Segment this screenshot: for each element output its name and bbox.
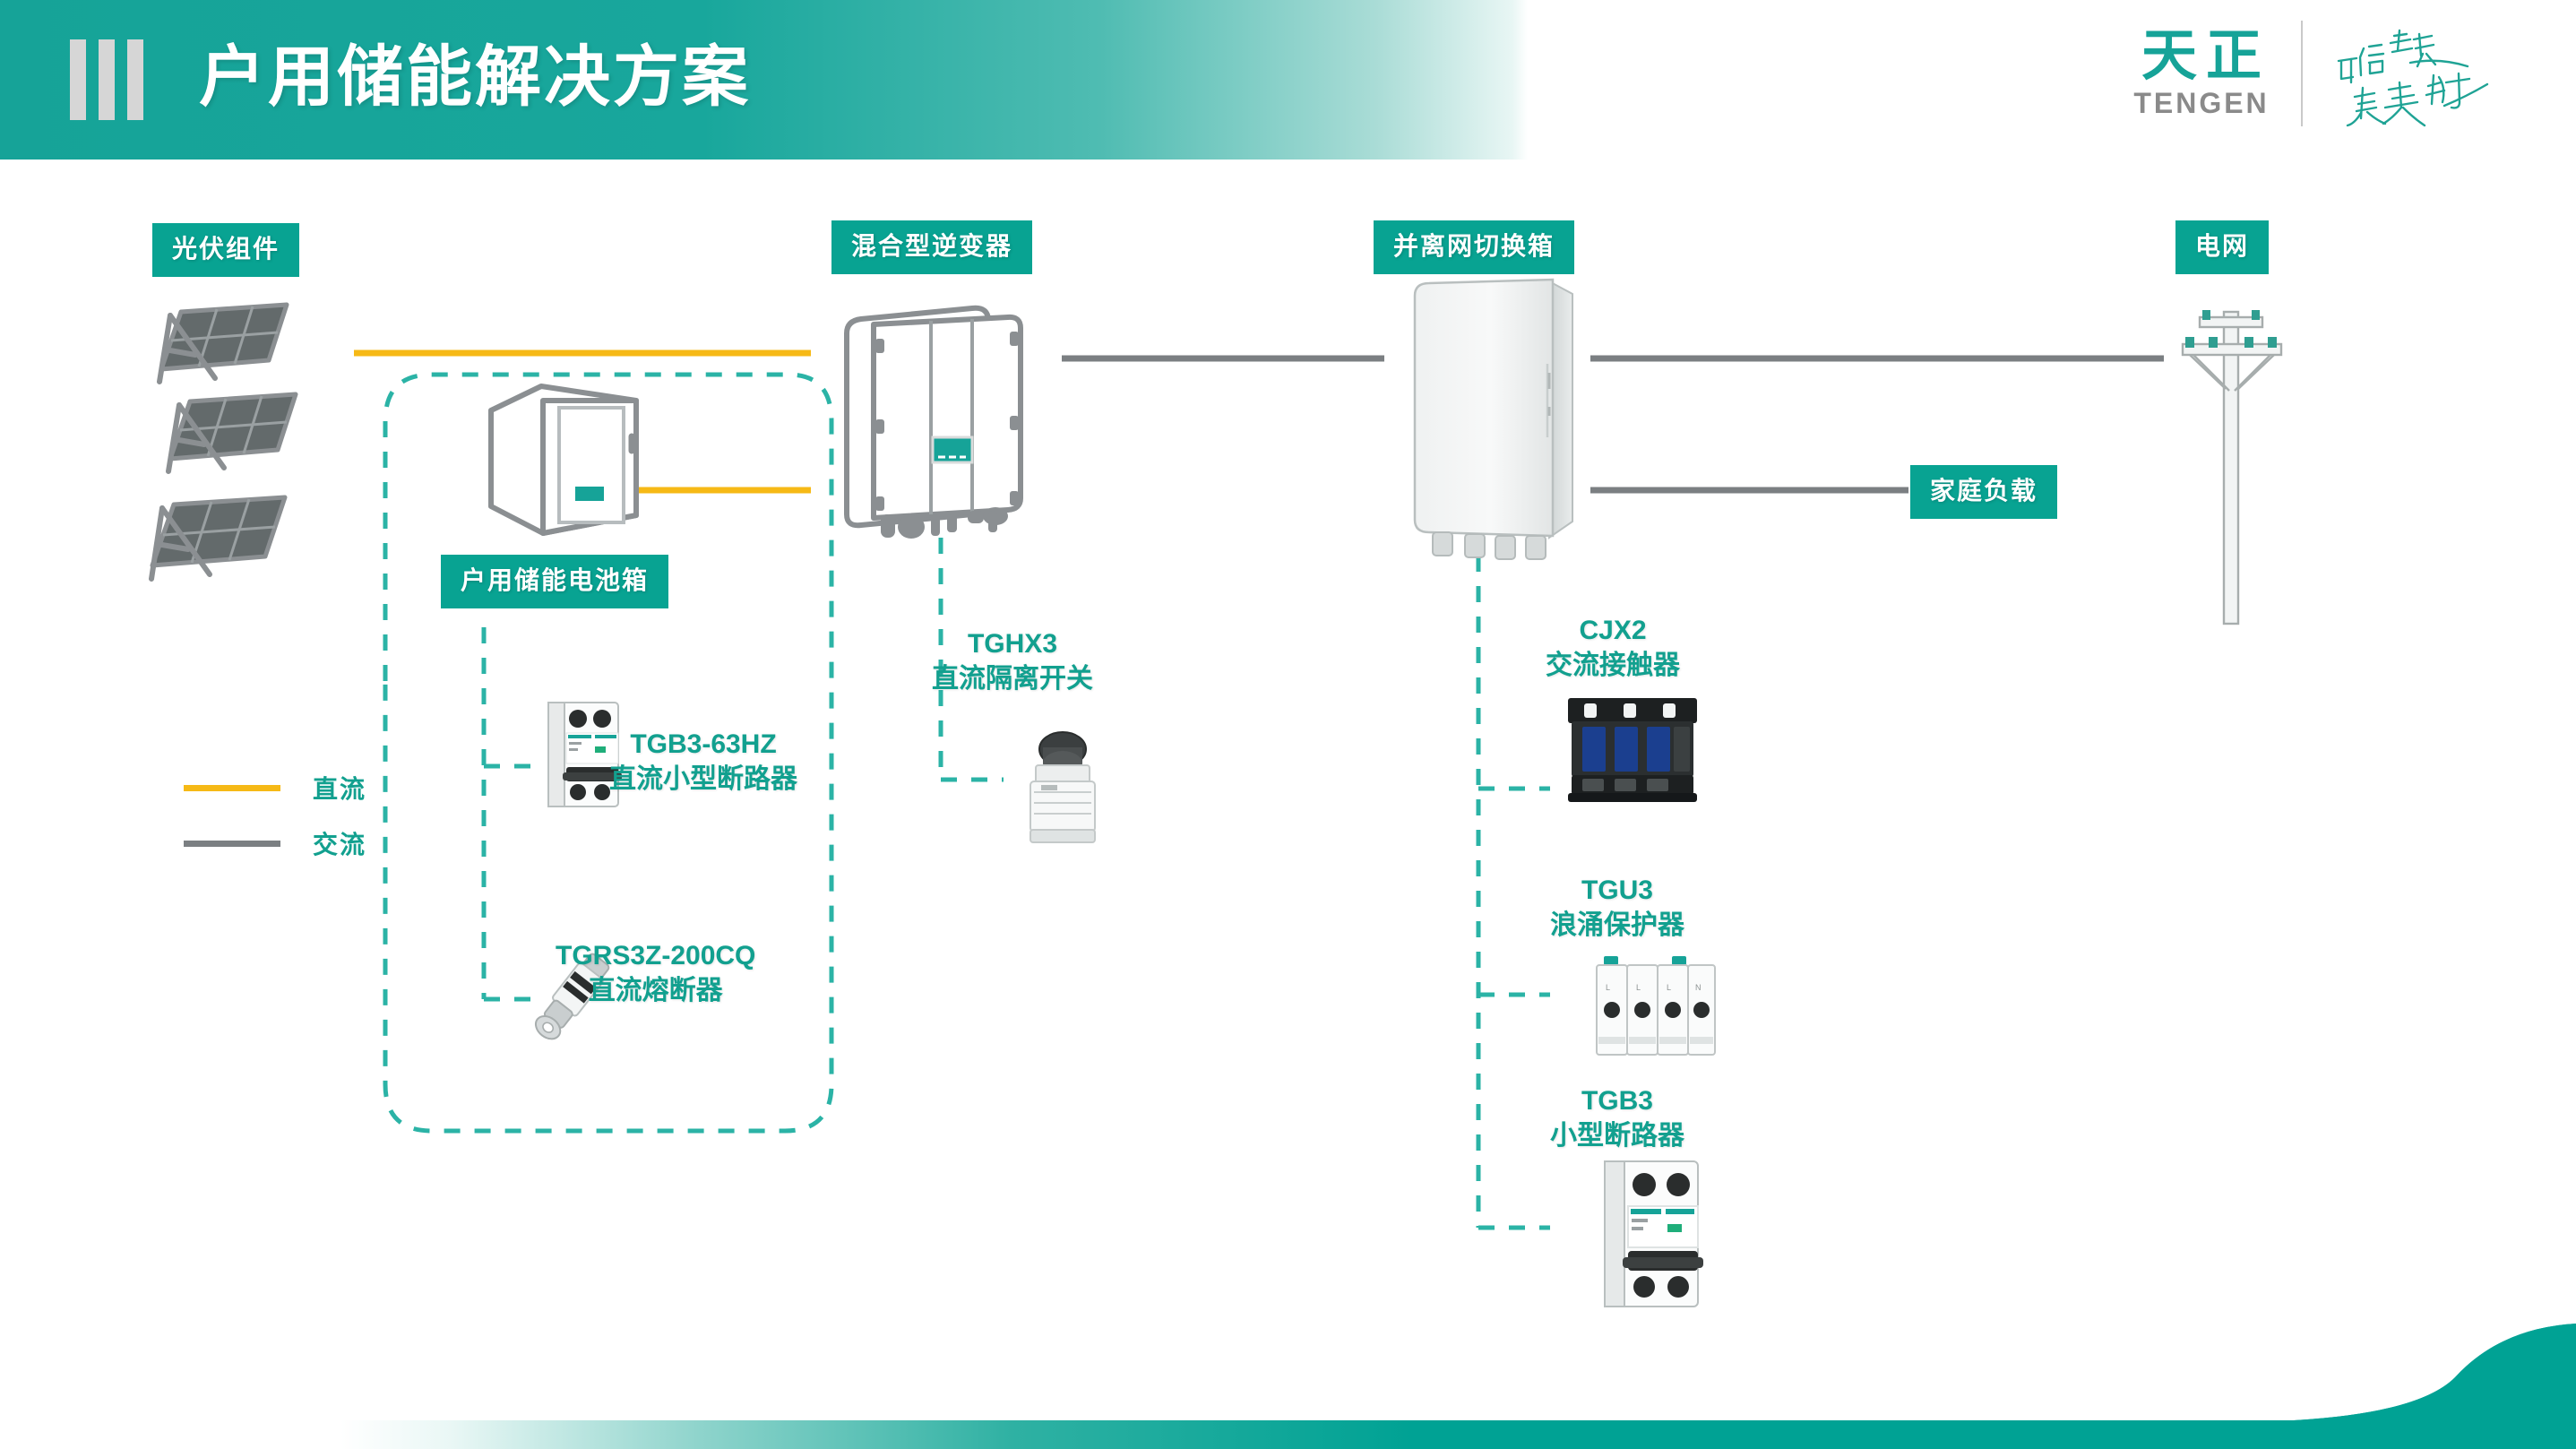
svg-text:L: L <box>1636 983 1641 992</box>
utility-pole-icon <box>2150 287 2312 632</box>
product-model-tgrs3z-200cq: TGRS3Z-200CQ <box>556 939 755 973</box>
tengen-logo: 天正 TENGEN <box>2132 27 2270 120</box>
section-label-pv: 光伏组件 <box>152 223 299 277</box>
product-desc-tgu3: 浪涌保护器 <box>1550 908 1684 944</box>
battery-cabinet-icon <box>466 381 645 542</box>
legend-label-dc: 直流 <box>313 770 366 806</box>
svg-text:N: N <box>1695 983 1702 992</box>
legend-item-ac: 交流 <box>184 815 366 871</box>
product-model-tgb3: TGB3 <box>1550 1084 1684 1118</box>
product-callout-tgu3: TGU3 浪涌保护器 <box>1550 874 1684 944</box>
page-header: 户用储能解决方案 <box>0 0 1528 160</box>
section-label-inverter: 混合型逆变器 <box>831 220 1032 274</box>
product-callout-tgb3: TGB3 小型断路器 <box>1550 1084 1684 1154</box>
dc-isolator-switch-icon <box>1004 726 1120 856</box>
svg-text:L: L <box>1606 983 1610 992</box>
section-label-grid: 电网 <box>2175 220 2269 274</box>
solar-panel-icon-2 <box>152 385 314 488</box>
surge-protector-icon: LLLN <box>1586 954 1725 1071</box>
product-desc-tgrs3z-200cq: 直流熔断器 <box>556 973 755 1009</box>
ac-contactor-icon <box>1559 686 1707 811</box>
product-model-cjx2: CJX2 <box>1546 614 1680 648</box>
brand-logo: 天正 TENGEN <box>2132 20 2499 127</box>
diagram-connectors <box>0 0 2576 1449</box>
solar-panel-icon-1 <box>143 296 305 399</box>
solar-panel-icon-3 <box>134 488 305 596</box>
legend-line-ac <box>184 841 280 847</box>
brand-name-en: TENGEN <box>2133 86 2269 120</box>
product-callout-tghx3: TGHX3 直流隔离开关 <box>932 627 1093 697</box>
product-callout-cjx2: CJX2 交流接触器 <box>1546 614 1680 684</box>
legend-label-ac: 交流 <box>313 825 366 861</box>
brand-name-cn: 天正 <box>2132 27 2270 86</box>
three-vertical-bars-icon <box>70 39 143 120</box>
handwritten-slogan-icon <box>2333 20 2499 127</box>
product-model-tghx3: TGHX3 <box>932 627 1093 661</box>
product-desc-tgb3: 小型断路器 <box>1550 1118 1684 1154</box>
product-model-tgb3-63hz: TGB3-63HZ <box>609 728 797 762</box>
svg-text:L: L <box>1667 983 1671 992</box>
miniature-circuit-breaker-icon <box>1590 1156 1716 1317</box>
legend-line-dc <box>184 785 280 791</box>
product-model-tgu3: TGU3 <box>1550 874 1684 908</box>
section-label-switchbox: 并离网切换箱 <box>1374 220 1574 274</box>
footer-decoration <box>0 1324 2576 1449</box>
page-title: 户用储能解决方案 <box>199 27 751 127</box>
product-desc-cjx2: 交流接触器 <box>1546 648 1680 684</box>
product-desc-tgb3-63hz: 直流小型断路器 <box>609 762 797 798</box>
legend: 直流 交流 <box>184 760 366 871</box>
section-label-home-load: 家庭负载 <box>1910 465 2057 519</box>
product-desc-tghx3: 直流隔离开关 <box>932 661 1093 697</box>
product-callout-tgb3-63hz: TGB3-63HZ 直流小型断路器 <box>609 728 797 798</box>
slide-canvas: 户用储能解决方案 天正 TENGEN <box>0 0 2576 1449</box>
product-callout-tgrs3z-200cq: TGRS3Z-200CQ 直流熔断器 <box>556 939 755 1009</box>
hybrid-inverter-icon <box>838 305 1030 551</box>
legend-item-dc: 直流 <box>184 760 366 815</box>
grid-switch-box-icon <box>1383 276 1593 567</box>
logo-divider <box>2301 21 2303 126</box>
section-label-battery: 户用储能电池箱 <box>441 555 668 608</box>
